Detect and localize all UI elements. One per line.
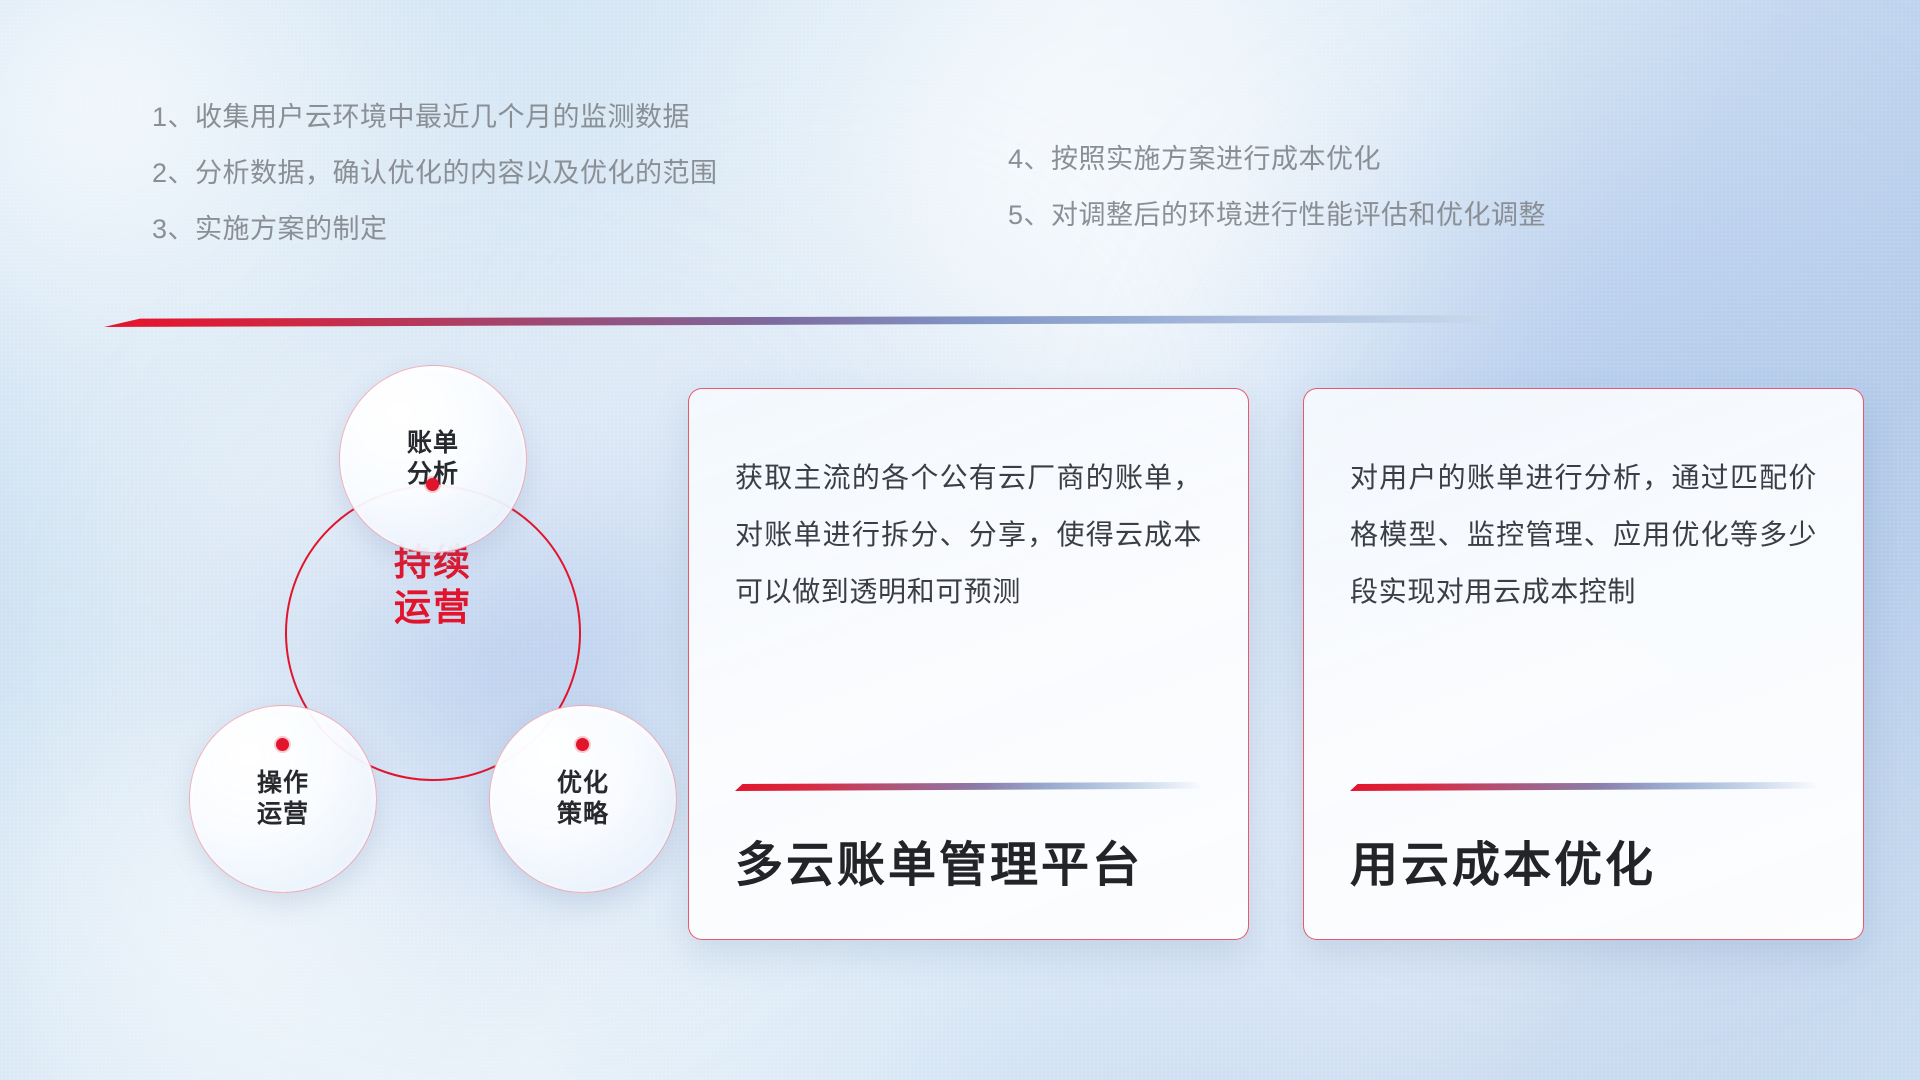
venn-bubble-label-line1: 操作 [257,768,309,800]
process-steps-list: 1、收集用户云环境中最近几个月的监测数据 2、分析数据，确认优化的内容以及优化的… [0,104,1920,284]
venn-bubble-label-line2: 运营 [257,799,309,831]
process-step-item: 3、实施方案的制定 [152,216,718,243]
venn-bubble-label: 优化 策略 [557,768,609,831]
venn-center-label-line2: 运营 [285,585,581,630]
feature-card-cost-optimization[interactable]: 对用户的账单进行分析，通过匹配价格模型、监控管理、应用优化等多少段实现对用云成本… [1303,388,1864,940]
process-steps-column-left: 1、收集用户云环境中最近几个月的监测数据 2、分析数据，确认优化的内容以及优化的… [152,104,718,272]
feature-card-body: 获取主流的各个公有云厂商的账单，对账单进行拆分、分享，使得云成本可以做到透明和可… [735,449,1202,620]
process-step-item: 2、分析数据，确认优化的内容以及优化的范围 [152,160,718,187]
process-steps-column-right: 4、按照实施方案进行成本优化 5、对调整后的环境进行性能评估和优化调整 [1008,146,1546,258]
venn-bubble-label-line1: 优化 [557,768,609,800]
process-step-item: 4、按照实施方案进行成本优化 [1008,146,1546,173]
feature-card-divider [735,782,1204,791]
venn-bubble-optimization-strategy[interactable]: 优化 策略 [489,705,677,893]
venn-bubble-operations[interactable]: 操作 运营 [189,705,377,893]
venn-bubble-label: 操作 运营 [257,768,309,831]
section-divider-gradient-bar [104,315,1494,327]
process-step-item: 5、对调整后的环境进行性能评估和优化调整 [1008,202,1546,229]
process-step-item: 1、收集用户云环境中最近几个月的监测数据 [152,104,718,131]
feature-card-multicloud-billing[interactable]: 获取主流的各个公有云厂商的账单，对账单进行拆分、分享，使得云成本可以做到透明和可… [688,388,1249,940]
venn-node-dot-top [426,478,439,491]
feature-card-divider [1350,782,1819,791]
section-divider [104,315,1494,327]
feature-card-title: 多云账单管理平台 [735,840,1143,893]
venn-node-dot-bottom-right [576,738,589,751]
feature-card-title: 用云成本优化 [1350,840,1656,893]
venn-node-dot-bottom-left [276,738,289,751]
venn-diagram: 持续 运营 账单 分析 操作 运营 优化 策略 [95,350,615,940]
feature-card-body: 对用户的账单进行分析，通过匹配价格模型、监控管理、应用优化等多少段实现对用云成本… [1350,449,1817,620]
venn-center-label: 持续 运营 [285,540,581,630]
venn-bubble-label-line2: 策略 [557,799,609,831]
venn-bubble-label-line1: 账单 [407,428,459,460]
venn-bubble-billing-analysis[interactable]: 账单 分析 [339,365,527,553]
feature-cards: 获取主流的各个公有云厂商的账单，对账单进行拆分、分享，使得云成本可以做到透明和可… [688,388,1864,940]
